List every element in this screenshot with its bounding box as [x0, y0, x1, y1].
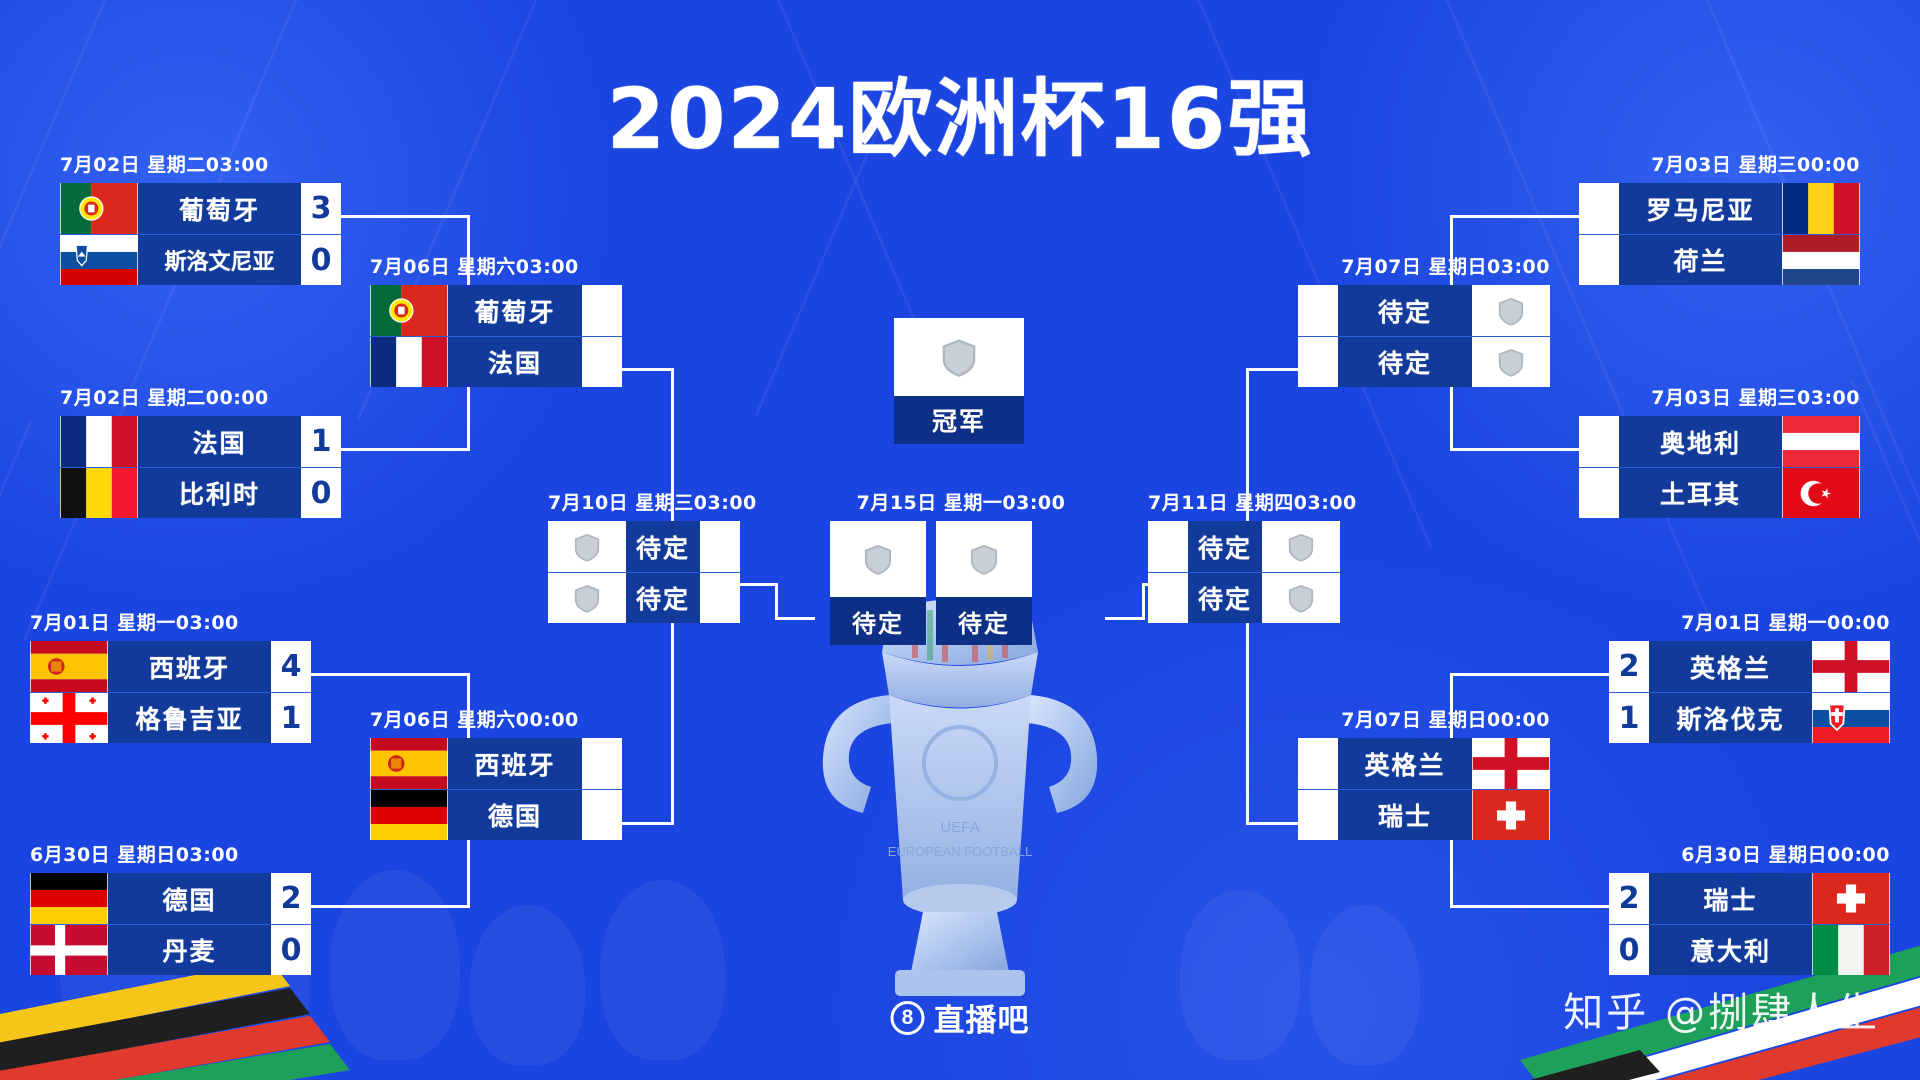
table-row[interactable]: 德国: [370, 789, 622, 840]
team-name: 奥地利: [1619, 416, 1782, 467]
team-score: 0: [301, 468, 341, 518]
team-name: 罗马尼亚: [1619, 183, 1782, 234]
match-left-qf-2[interactable]: 7月06日 星期六00:00 西班牙 德国: [370, 705, 622, 840]
match-right-r16-3[interactable]: 7月01日 星期一00:00 2 英格兰 1 斯洛伐克: [1609, 608, 1890, 743]
team-score: [1148, 521, 1188, 572]
flag-england: [1472, 738, 1550, 789]
team-name: 待定: [1338, 337, 1472, 387]
team-score: [1579, 235, 1619, 285]
shield-icon: [830, 521, 926, 597]
match-date: 7月02日 星期二03:00: [60, 150, 341, 177]
flag-austria: [1782, 416, 1860, 467]
final-date: 7月15日 星期一03:00: [857, 492, 1066, 514]
watermark: 知乎 @捌肆人生: [1563, 980, 1880, 1038]
team-name: 西班牙: [108, 641, 271, 692]
table-row[interactable]: 格鲁吉亚 1: [30, 692, 311, 743]
flag-turkey: [1782, 468, 1860, 518]
flag-france: [60, 416, 138, 467]
match-date: 6月30日 星期日00:00: [1609, 840, 1890, 867]
team-score: 1: [1609, 693, 1649, 743]
table-row[interactable]: 法国: [370, 336, 622, 387]
flag-germany: [370, 790, 448, 840]
flag-spain: [370, 738, 448, 789]
team-name: 待定: [626, 573, 700, 623]
flag-denmark: [30, 925, 108, 975]
team-score: 2: [1609, 873, 1649, 924]
team-score: 4: [271, 641, 311, 692]
flag-netherlands: [1782, 235, 1860, 285]
match-right-qf-2[interactable]: 7月07日 星期日00:00 英格兰 瑞士: [1298, 705, 1550, 840]
table-row[interactable]: 葡萄牙 3: [60, 183, 341, 234]
flag-slovakia: [1812, 693, 1890, 743]
team-score: 2: [1609, 641, 1649, 692]
table-row[interactable]: 英格兰: [1298, 738, 1550, 789]
table-row[interactable]: 瑞士: [1298, 789, 1550, 840]
match-right-r16-2[interactable]: 7月03日 星期三03:00 奥地利 土耳其: [1579, 383, 1860, 518]
match-date: 7月10日 星期三03:00: [548, 488, 740, 515]
team-score: [700, 521, 740, 572]
confetti-ribbon-left: [0, 960, 450, 1080]
team-score: [582, 337, 622, 387]
table-row[interactable]: 2 瑞士: [1609, 873, 1890, 924]
match-date: 7月02日 星期二00:00: [60, 383, 341, 410]
flag-france: [370, 337, 448, 387]
table-row[interactable]: 德国 2: [30, 873, 311, 924]
team-name: 格鲁吉亚: [108, 693, 271, 743]
flag-romania: [1782, 183, 1860, 234]
team-name: 待定: [830, 597, 926, 645]
team-score: 1: [301, 416, 341, 467]
match-left-r16-3[interactable]: 7月01日 星期一03:00 西班牙 4 格鲁吉亚 1: [30, 608, 311, 743]
match-date: 7月07日 星期日00:00: [1298, 705, 1550, 732]
champion-label: 冠军: [894, 396, 1024, 444]
team-score: 3: [301, 183, 341, 234]
team-score: [1579, 183, 1619, 234]
team-name: 英格兰: [1649, 641, 1812, 692]
broadcaster-badge-icon: 8: [891, 1001, 925, 1035]
shield-icon: [936, 521, 1032, 597]
flag-switzerland: [1812, 873, 1890, 924]
table-row[interactable]: 奥地利: [1579, 416, 1860, 467]
final-slot-2[interactable]: 待定: [936, 521, 1032, 645]
team-score: [1298, 285, 1338, 336]
team-score: 0: [1609, 925, 1649, 975]
svg-text:EUROPEAN FOOTBALL: EUROPEAN FOOTBALL: [888, 844, 1032, 859]
team-name: 法国: [448, 337, 582, 387]
broadcaster-name: 直播吧: [934, 995, 1030, 1040]
team-score: 0: [301, 235, 341, 285]
flag-italy: [1812, 925, 1890, 975]
match-date: 6月30日 星期日03:00: [30, 840, 311, 867]
team-score: 2: [271, 873, 311, 924]
table-row[interactable]: 待定: [1148, 521, 1340, 572]
match-left-sf[interactable]: 7月10日 星期三03:00 待定 待定: [548, 488, 740, 623]
team-name: 葡萄牙: [448, 285, 582, 336]
team-score: [1298, 337, 1338, 387]
match-date: 7月01日 星期一03:00: [30, 608, 311, 635]
table-row[interactable]: 西班牙: [370, 738, 622, 789]
match-date: 7月03日 星期三03:00: [1579, 383, 1860, 410]
flag-portugal: [60, 183, 138, 234]
match-date: 7月03日 星期三00:00: [1579, 150, 1860, 177]
flag-slovenia: [60, 235, 138, 285]
table-row[interactable]: 待定: [1148, 572, 1340, 623]
team-score: [1579, 416, 1619, 467]
match-left-r16-1[interactable]: 7月02日 星期二03:00 葡萄牙 3 斯洛文尼亚 0: [60, 150, 341, 285]
team-name: 西班牙: [448, 738, 582, 789]
flag-portugal: [370, 285, 448, 336]
table-row[interactable]: 荷兰: [1579, 234, 1860, 285]
match-date: 7月06日 星期六00:00: [370, 705, 622, 732]
flag-germany: [30, 873, 108, 924]
table-row[interactable]: 待定: [548, 521, 740, 572]
team-score: 0: [271, 925, 311, 975]
team-score: [1579, 468, 1619, 518]
match-left-r16-2[interactable]: 7月02日 星期二00:00 法国 1 比利时 0: [60, 383, 341, 518]
table-row[interactable]: 2 英格兰: [1609, 641, 1890, 692]
broadcaster-logo: 8 直播吧: [891, 995, 1030, 1040]
team-name: 待定: [626, 521, 700, 572]
shield-icon: [1472, 337, 1550, 387]
flag-spain: [30, 641, 108, 692]
team-name: 法国: [138, 416, 301, 467]
team-name: 德国: [108, 873, 271, 924]
flag-belgium: [60, 468, 138, 518]
final-slot-1[interactable]: 待定: [830, 521, 926, 645]
match-date: 7月15日 星期一03:00: [830, 488, 1092, 515]
match-left-r16-4[interactable]: 6月30日 星期日03:00 德国 2 丹麦 0: [30, 840, 311, 975]
champion-shield-icon: [894, 318, 1024, 396]
match-right-r16-1[interactable]: 7月03日 星期三00:00 罗马尼亚 荷兰: [1579, 150, 1860, 285]
shield-icon: [548, 521, 626, 572]
team-name: 待定: [1188, 521, 1262, 572]
team-name: 待定: [1188, 573, 1262, 623]
match-date: 7月11日 星期四03:00: [1148, 488, 1340, 515]
flag-georgia: [30, 693, 108, 743]
table-row[interactable]: 0 意大利: [1609, 924, 1890, 975]
flag-england: [1812, 641, 1890, 692]
shield-icon: [1472, 285, 1550, 336]
team-score: [582, 285, 622, 336]
match-final[interactable]: 7月15日 星期一03:00 待定 待定: [830, 488, 1092, 645]
team-name: 瑞士: [1338, 790, 1472, 840]
team-name: 比利时: [138, 468, 301, 518]
table-row[interactable]: 丹麦 0: [30, 924, 311, 975]
team-name: 荷兰: [1619, 235, 1782, 285]
table-row[interactable]: 待定: [1298, 285, 1550, 336]
table-row[interactable]: 葡萄牙: [370, 285, 622, 336]
match-right-sf[interactable]: 7月11日 星期四03:00 待定 待定: [1148, 488, 1340, 623]
table-row[interactable]: 西班牙 4: [30, 641, 311, 692]
team-score: [1298, 738, 1338, 789]
team-score: 1: [271, 693, 311, 743]
team-score: [1298, 790, 1338, 840]
table-row[interactable]: 土耳其: [1579, 467, 1860, 518]
table-row[interactable]: 1 斯洛伐克: [1609, 692, 1890, 743]
team-name: 德国: [448, 790, 582, 840]
svg-text:UEFA: UEFA: [940, 819, 979, 836]
match-left-qf-1[interactable]: 7月06日 星期六03:00 葡萄牙 法国: [370, 252, 622, 387]
team-name: 土耳其: [1619, 468, 1782, 518]
table-row[interactable]: 法国 1: [60, 416, 341, 467]
team-score: [582, 738, 622, 789]
team-name: 待定: [1338, 285, 1472, 336]
flag-switzerland: [1472, 790, 1550, 840]
team-name: 待定: [936, 597, 1032, 645]
table-row[interactable]: 待定: [1298, 336, 1550, 387]
team-name: 丹麦: [108, 925, 271, 975]
table-row[interactable]: 罗马尼亚: [1579, 183, 1860, 234]
team-score: [1148, 573, 1188, 623]
shield-icon: [1262, 521, 1340, 572]
table-row[interactable]: 斯洛文尼亚 0: [60, 234, 341, 285]
team-name: 葡萄牙: [138, 183, 301, 234]
team-name: 斯洛文尼亚: [138, 235, 301, 285]
table-row[interactable]: 比利时 0: [60, 467, 341, 518]
team-name: 英格兰: [1338, 738, 1472, 789]
team-name: 瑞士: [1649, 873, 1812, 924]
match-date: 7月01日 星期一00:00: [1609, 608, 1890, 635]
match-date: 7月06日 星期六03:00: [370, 252, 622, 279]
match-right-r16-4[interactable]: 6月30日 星期日00:00 2 瑞士 0 意大利: [1609, 840, 1890, 975]
match-date: 7月07日 星期日03:00: [1298, 252, 1550, 279]
team-name: 意大利: [1649, 925, 1812, 975]
match-right-qf-1[interactable]: 7月07日 星期日03:00 待定 待定: [1298, 252, 1550, 387]
table-row[interactable]: 待定: [548, 572, 740, 623]
uefa-trophy-illustration: UEFA EUROPEAN FOOTBALL: [795, 600, 1125, 1020]
team-score: [700, 573, 740, 623]
shield-icon: [1262, 573, 1340, 623]
shield-icon: [548, 573, 626, 623]
team-name: 斯洛伐克: [1649, 693, 1812, 743]
team-score: [582, 790, 622, 840]
champion-box[interactable]: 冠军: [894, 318, 1024, 444]
